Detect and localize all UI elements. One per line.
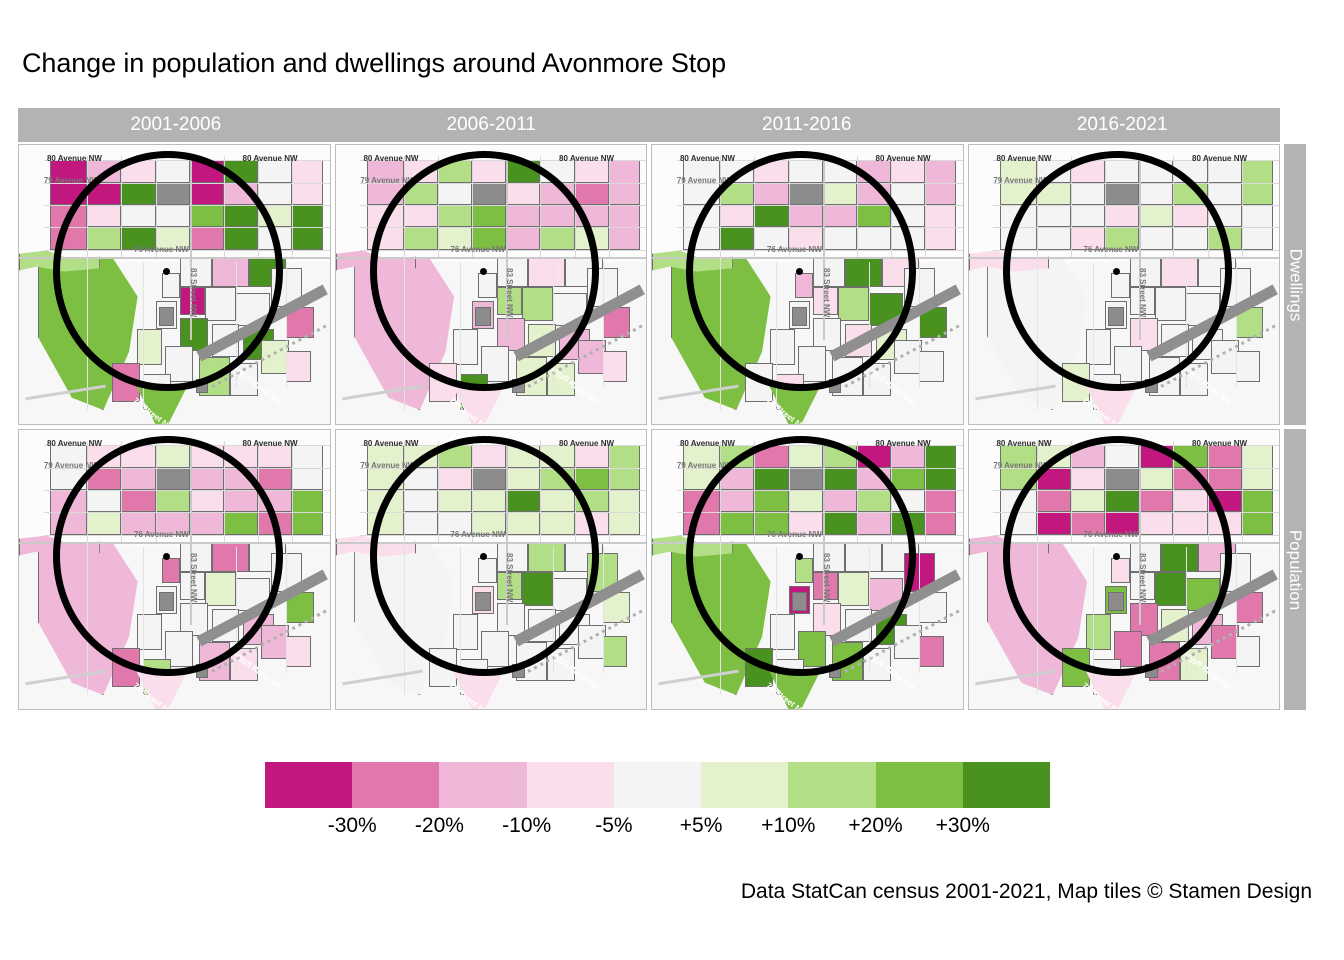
facet-column-text: 2001-2006 [130,114,221,136]
map-canvas: 80 Avenue NW80 Avenue NW79 Avenue NW76 A… [969,430,1280,709]
stop-center-marker [480,268,487,275]
map-canvas: 80 Avenue NW80 Avenue NW79 Avenue NW76 A… [652,430,963,709]
legend-tick-minus20: -20% [415,814,464,838]
street-line [1242,441,1243,541]
map-canvas: 80 Avenue NW80 Avenue NW79 Avenue NW76 A… [652,145,963,424]
street-label-80-avenue-nw-west: 80 Avenue NW [363,154,418,163]
street-line [609,156,610,256]
map-panel-grid: 80 Avenue NW80 Avenue NW79 Avenue NW76 A… [18,144,1280,710]
facet-grid: 2001-2006 2006-2011 2011-2016 2016-2021 … [18,108,1306,710]
legend-swatch-4 [614,762,701,808]
census-block [891,468,925,490]
census-block [1208,160,1242,182]
legend-swatch-2 [439,762,526,808]
census-block [891,160,925,182]
legend-tick-minus10: -10% [502,814,551,838]
census-block [891,183,925,205]
census-block [258,160,292,182]
street-line [603,262,604,388]
census-block [575,160,609,182]
street-line [1242,156,1243,256]
legend-tick-plus30: +30% [936,814,990,838]
census-block [575,468,609,490]
stop-center-marker [1113,268,1120,275]
figure-root: Change in population and dwellings aroun… [0,0,1344,960]
street-line [292,441,293,541]
facet-column-text: 2006-2011 [447,114,536,136]
legend-tick-labels: -30%-20%-10%-5%+5%+10%+20%+30% [265,814,1050,854]
legend-swatch-7 [876,762,963,808]
legend-swatch-0 [265,762,352,808]
census-block [575,445,609,467]
street-label-80-avenue-nw-east: 80 Avenue NW [1192,439,1247,448]
street-line [925,156,926,256]
facet-row-label-population: Population [1284,429,1306,710]
map-canvas: 80 Avenue NW80 Avenue NW79 Avenue NW76 A… [336,430,647,709]
census-block [258,445,292,467]
map-canvas: 80 Avenue NW80 Avenue NW79 Avenue NW76 A… [19,430,330,709]
figure-caption: Data StatCan census 2001-2021, Map tiles… [741,880,1312,904]
legend-tick-plus20: +20% [848,814,902,838]
street-label-80-avenue-nw-west: 80 Avenue NW [680,154,735,163]
legend-tick-plus10: +10% [761,814,815,838]
map-panel-dwellings-2016-2021[interactable]: 80 Avenue NW80 Avenue NW79 Avenue NW76 A… [968,144,1281,425]
stop-center-marker [1113,553,1120,560]
street-label-80-avenue-nw-east: 80 Avenue NW [559,154,614,163]
census-block [258,183,292,205]
legend-swatch-1 [352,762,439,808]
facet-row-label-dwellings: Dwellings [1284,144,1306,425]
map-panel-dwellings-2006-2011[interactable]: 80 Avenue NW80 Avenue NW79 Avenue NW76 A… [335,144,648,425]
map-panel-population-2011-2016[interactable]: 80 Avenue NW80 Avenue NW79 Avenue NW76 A… [651,429,964,710]
street-line [609,441,610,541]
street-label-80-avenue-nw-east: 80 Avenue NW [1192,154,1247,163]
facet-column-label-2016-2021: 2016-2021 [965,108,1281,142]
street-label-80-avenue-nw-west: 80 Avenue NW [996,439,1051,448]
facet-row-text: Dwellings [1285,248,1305,321]
stop-center-marker [480,553,487,560]
map-panel-dwellings-2001-2006[interactable]: 80 Avenue NW80 Avenue NW79 Avenue NW76 A… [18,144,331,425]
census-block [286,636,311,667]
census-block [891,445,925,467]
street-line [286,262,287,388]
street-label-80-avenue-nw-east: 80 Avenue NW [876,154,931,163]
street-label-80-avenue-nw-west: 80 Avenue NW [363,439,418,448]
street-line [603,547,604,673]
map-canvas: 80 Avenue NW80 Avenue NW79 Avenue NW76 A… [19,145,330,424]
street-label-80-avenue-nw-east: 80 Avenue NW [559,439,614,448]
legend-tick-plus5: +5% [680,814,723,838]
legend-swatch-3 [527,762,614,808]
street-label-80-avenue-nw-west: 80 Avenue NW [47,439,102,448]
census-block [258,468,292,490]
census-block [575,183,609,205]
legend: -30%-20%-10%-5%+5%+10%+20%+30% [265,762,1050,854]
map-panel-population-2001-2006[interactable]: 80 Avenue NW80 Avenue NW79 Avenue NW76 A… [18,429,331,710]
facet-column-label-2001-2006: 2001-2006 [18,108,334,142]
facet-column-text: 2011-2016 [762,114,851,136]
census-block [1236,351,1261,382]
map-panel-dwellings-2011-2016[interactable]: 80 Avenue NW80 Avenue NW79 Avenue NW76 A… [651,144,964,425]
census-block [919,636,944,667]
census-block [1208,445,1242,467]
facet-column-strip: 2001-2006 2006-2011 2011-2016 2016-2021 [18,108,1280,142]
street-label-80-avenue-nw-west: 80 Avenue NW [996,154,1051,163]
street-line [919,262,920,388]
map-panel-population-2006-2011[interactable]: 80 Avenue NW80 Avenue NW79 Avenue NW76 A… [335,429,648,710]
street-label-80-avenue-nw-east: 80 Avenue NW [876,439,931,448]
legend-swatch-5 [701,762,788,808]
street-line [1236,547,1237,673]
map-canvas: 80 Avenue NW80 Avenue NW79 Avenue NW76 A… [969,145,1280,424]
street-line [1236,262,1237,388]
census-block [1208,183,1242,205]
legend-tick-minus30: -30% [328,814,377,838]
census-block [1236,636,1261,667]
street-label-80-avenue-nw-west: 80 Avenue NW [680,439,735,448]
census-block [919,351,944,382]
census-block [603,636,628,667]
facet-row-text: Population [1285,529,1305,609]
map-canvas: 80 Avenue NW80 Avenue NW79 Avenue NW76 A… [336,145,647,424]
street-line [925,441,926,541]
legend-swatch-8 [963,762,1050,808]
census-block [286,351,311,382]
facet-column-label-2006-2011: 2006-2011 [334,108,650,142]
street-line [919,547,920,673]
legend-tick-minus5: -5% [595,814,632,838]
street-line [286,547,287,673]
facet-row-strip: Dwellings Population [1284,144,1306,710]
census-block [603,351,628,382]
map-panel-population-2016-2021[interactable]: 80 Avenue NW80 Avenue NW79 Avenue NW76 A… [968,429,1281,710]
street-label-80-avenue-nw-east: 80 Avenue NW [243,154,298,163]
panel-row-dwellings: 80 Avenue NW80 Avenue NW79 Avenue NW76 A… [18,144,1280,425]
facet-column-label-2011-2016: 2011-2016 [649,108,965,142]
street-label-80-avenue-nw-west: 80 Avenue NW [47,154,102,163]
facet-column-text: 2016-2021 [1077,114,1168,136]
street-line [292,156,293,256]
panel-row-population: 80 Avenue NW80 Avenue NW79 Avenue NW76 A… [18,429,1280,710]
legend-swatch-6 [788,762,875,808]
census-block [1208,468,1242,490]
legend-colorbar [265,762,1050,808]
street-label-80-avenue-nw-east: 80 Avenue NW [243,439,298,448]
page-title: Change in population and dwellings aroun… [22,48,726,79]
